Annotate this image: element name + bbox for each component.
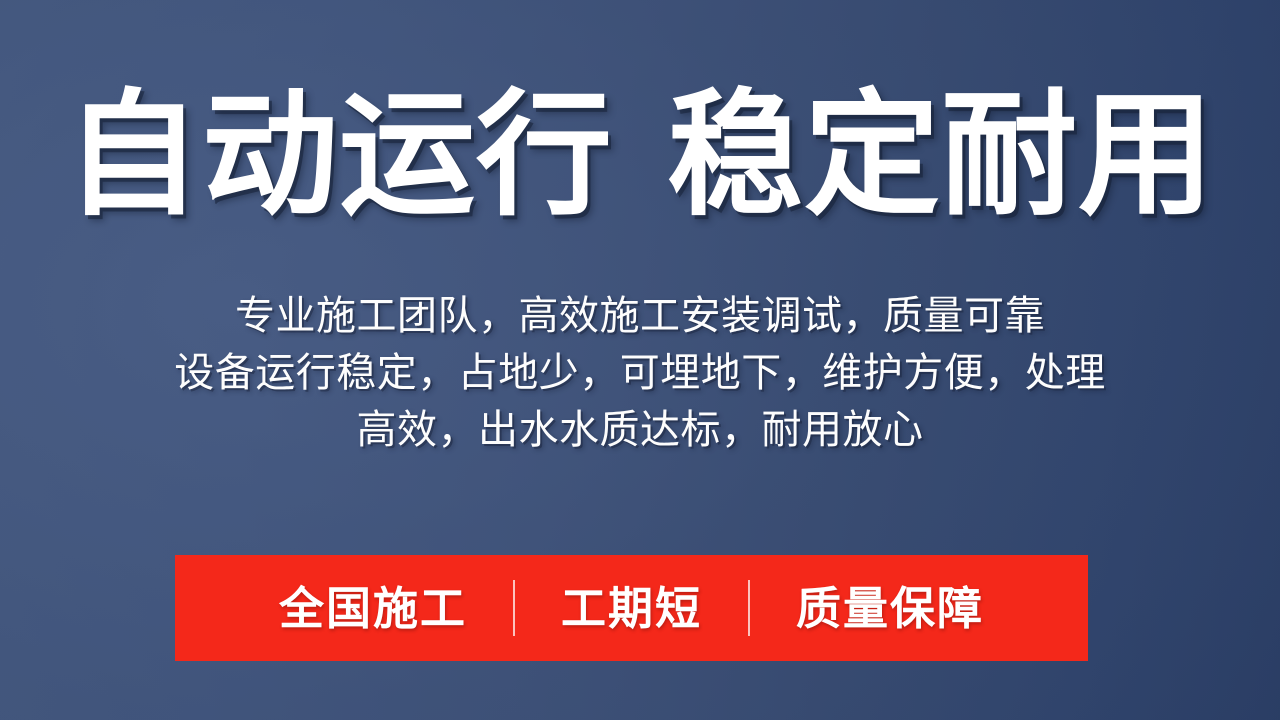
highlight-bar: 全国施工 工期短 质量保障 (175, 555, 1088, 661)
highlight-tag-3: 质量保障 (750, 586, 1030, 631)
headline-part-2: 稳定耐用 (667, 79, 1215, 231)
highlight-tag-2: 工期短 (515, 586, 748, 631)
subcopy-line-2: 设备运行稳定，占地少，可埋地下，维护方便，处理 (0, 345, 1280, 402)
subcopy-line-1: 专业施工团队，高效施工安装调试，质量可靠 (0, 288, 1280, 345)
subcopy: 专业施工团队，高效施工安装调试，质量可靠 设备运行稳定，占地少，可埋地下，维护方… (0, 288, 1280, 459)
promo-banner: 自动运行稳定耐用 专业施工团队，高效施工安装调试，质量可靠 设备运行稳定，占地少… (0, 0, 1280, 720)
subcopy-line-3: 高效，出水水质达标，耐用放心 (0, 402, 1280, 459)
headline: 自动运行稳定耐用 (0, 80, 1280, 230)
headline-part-1: 自动运行 (65, 79, 613, 231)
highlight-tag-1: 全国施工 (233, 586, 513, 631)
